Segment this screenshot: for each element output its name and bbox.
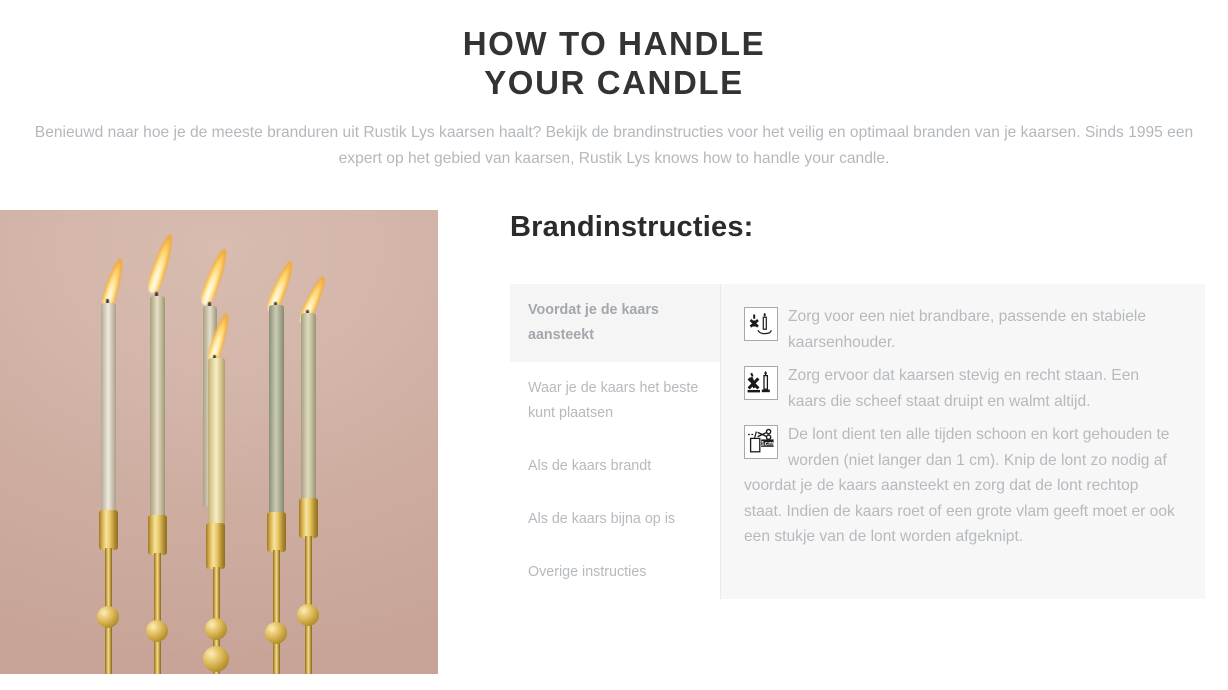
page-intro-paragraph: Benieuwd naar hoe je de meeste branduren…	[16, 120, 1212, 172]
flame-icon	[198, 246, 231, 307]
candle-taper	[301, 313, 316, 503]
tab-als-de-kaars-bijna-op-is[interactable]: Als de kaars bijna op is	[510, 493, 720, 546]
brass-stem	[154, 553, 161, 674]
brass-ball	[297, 604, 319, 626]
brass-cuff	[148, 515, 167, 555]
tab-list: Voordat je de kaars aansteekt Waar je de…	[510, 284, 721, 599]
candle-upright-icon	[744, 366, 778, 400]
flame-icon	[145, 233, 177, 296]
instruction-text: Zorg voor een niet brandbare, passende e…	[788, 308, 1146, 351]
page-title-line-1: HOW TO HANDLE	[0, 24, 1228, 63]
content-row: Brandinstructies: Voordat je de kaars aa…	[0, 210, 1228, 674]
tab-waar-je-de-kaars-het-beste-kunt-plaatsen[interactable]: Waar je de kaars het beste kunt plaatsen	[510, 362, 720, 440]
brass-stem	[273, 550, 280, 674]
brass-ball	[203, 646, 229, 672]
instruction-item: 1cm De lont dient ten alle tijden schoon…	[744, 422, 1179, 550]
brass-ball	[146, 620, 168, 642]
page-title: HOW TO HANDLE YOUR CANDLE	[0, 24, 1228, 102]
brass-ball	[265, 622, 287, 644]
section-heading: Brandinstructies:	[510, 210, 1205, 244]
candle-taper	[269, 305, 284, 517]
candle-taper	[101, 303, 116, 515]
brass-ball	[205, 618, 227, 640]
icon-1cm-label: 1cm	[761, 440, 774, 447]
page-header: HOW TO HANDLE YOUR CANDLE Benieuwd naar …	[0, 0, 1228, 172]
page-title-line-2: YOUR CANDLE	[0, 63, 1228, 102]
brass-ball	[97, 606, 119, 628]
brass-cuff	[299, 498, 318, 538]
instructions-accordion: Voordat je de kaars aansteekt Waar je de…	[510, 284, 1205, 599]
photo-column	[0, 210, 438, 674]
tab-overige-instructies[interactable]: Overige instructies	[510, 546, 720, 599]
brass-cuff	[99, 510, 118, 550]
instruction-item: Zorg ervoor dat kaarsen stevig en recht …	[744, 363, 1179, 414]
instruction-item: Zorg voor een niet brandbare, passende e…	[744, 304, 1179, 355]
tab-voordat-je-de-kaars-aansteekt[interactable]: Voordat je de kaars aansteekt	[510, 284, 720, 362]
tab-panel: Zorg voor een niet brandbare, passende e…	[721, 284, 1205, 599]
instruction-text: Zorg ervoor dat kaarsen stevig en recht …	[788, 367, 1139, 410]
candle-taper	[150, 296, 165, 516]
brass-cuff	[206, 523, 225, 569]
instructions-column: Brandinstructies: Voordat je de kaars aa…	[438, 210, 1228, 599]
candle-in-holder-icon	[744, 307, 778, 341]
instruction-text: De lont dient ten alle tijden schoon en …	[744, 426, 1175, 545]
candle-photo	[0, 210, 438, 674]
candle-taper	[208, 358, 225, 526]
trim-wick-scissors-icon: 1cm	[744, 425, 778, 459]
tab-als-de-kaars-brandt[interactable]: Als de kaars brandt	[510, 440, 720, 493]
brass-cuff	[267, 512, 286, 552]
